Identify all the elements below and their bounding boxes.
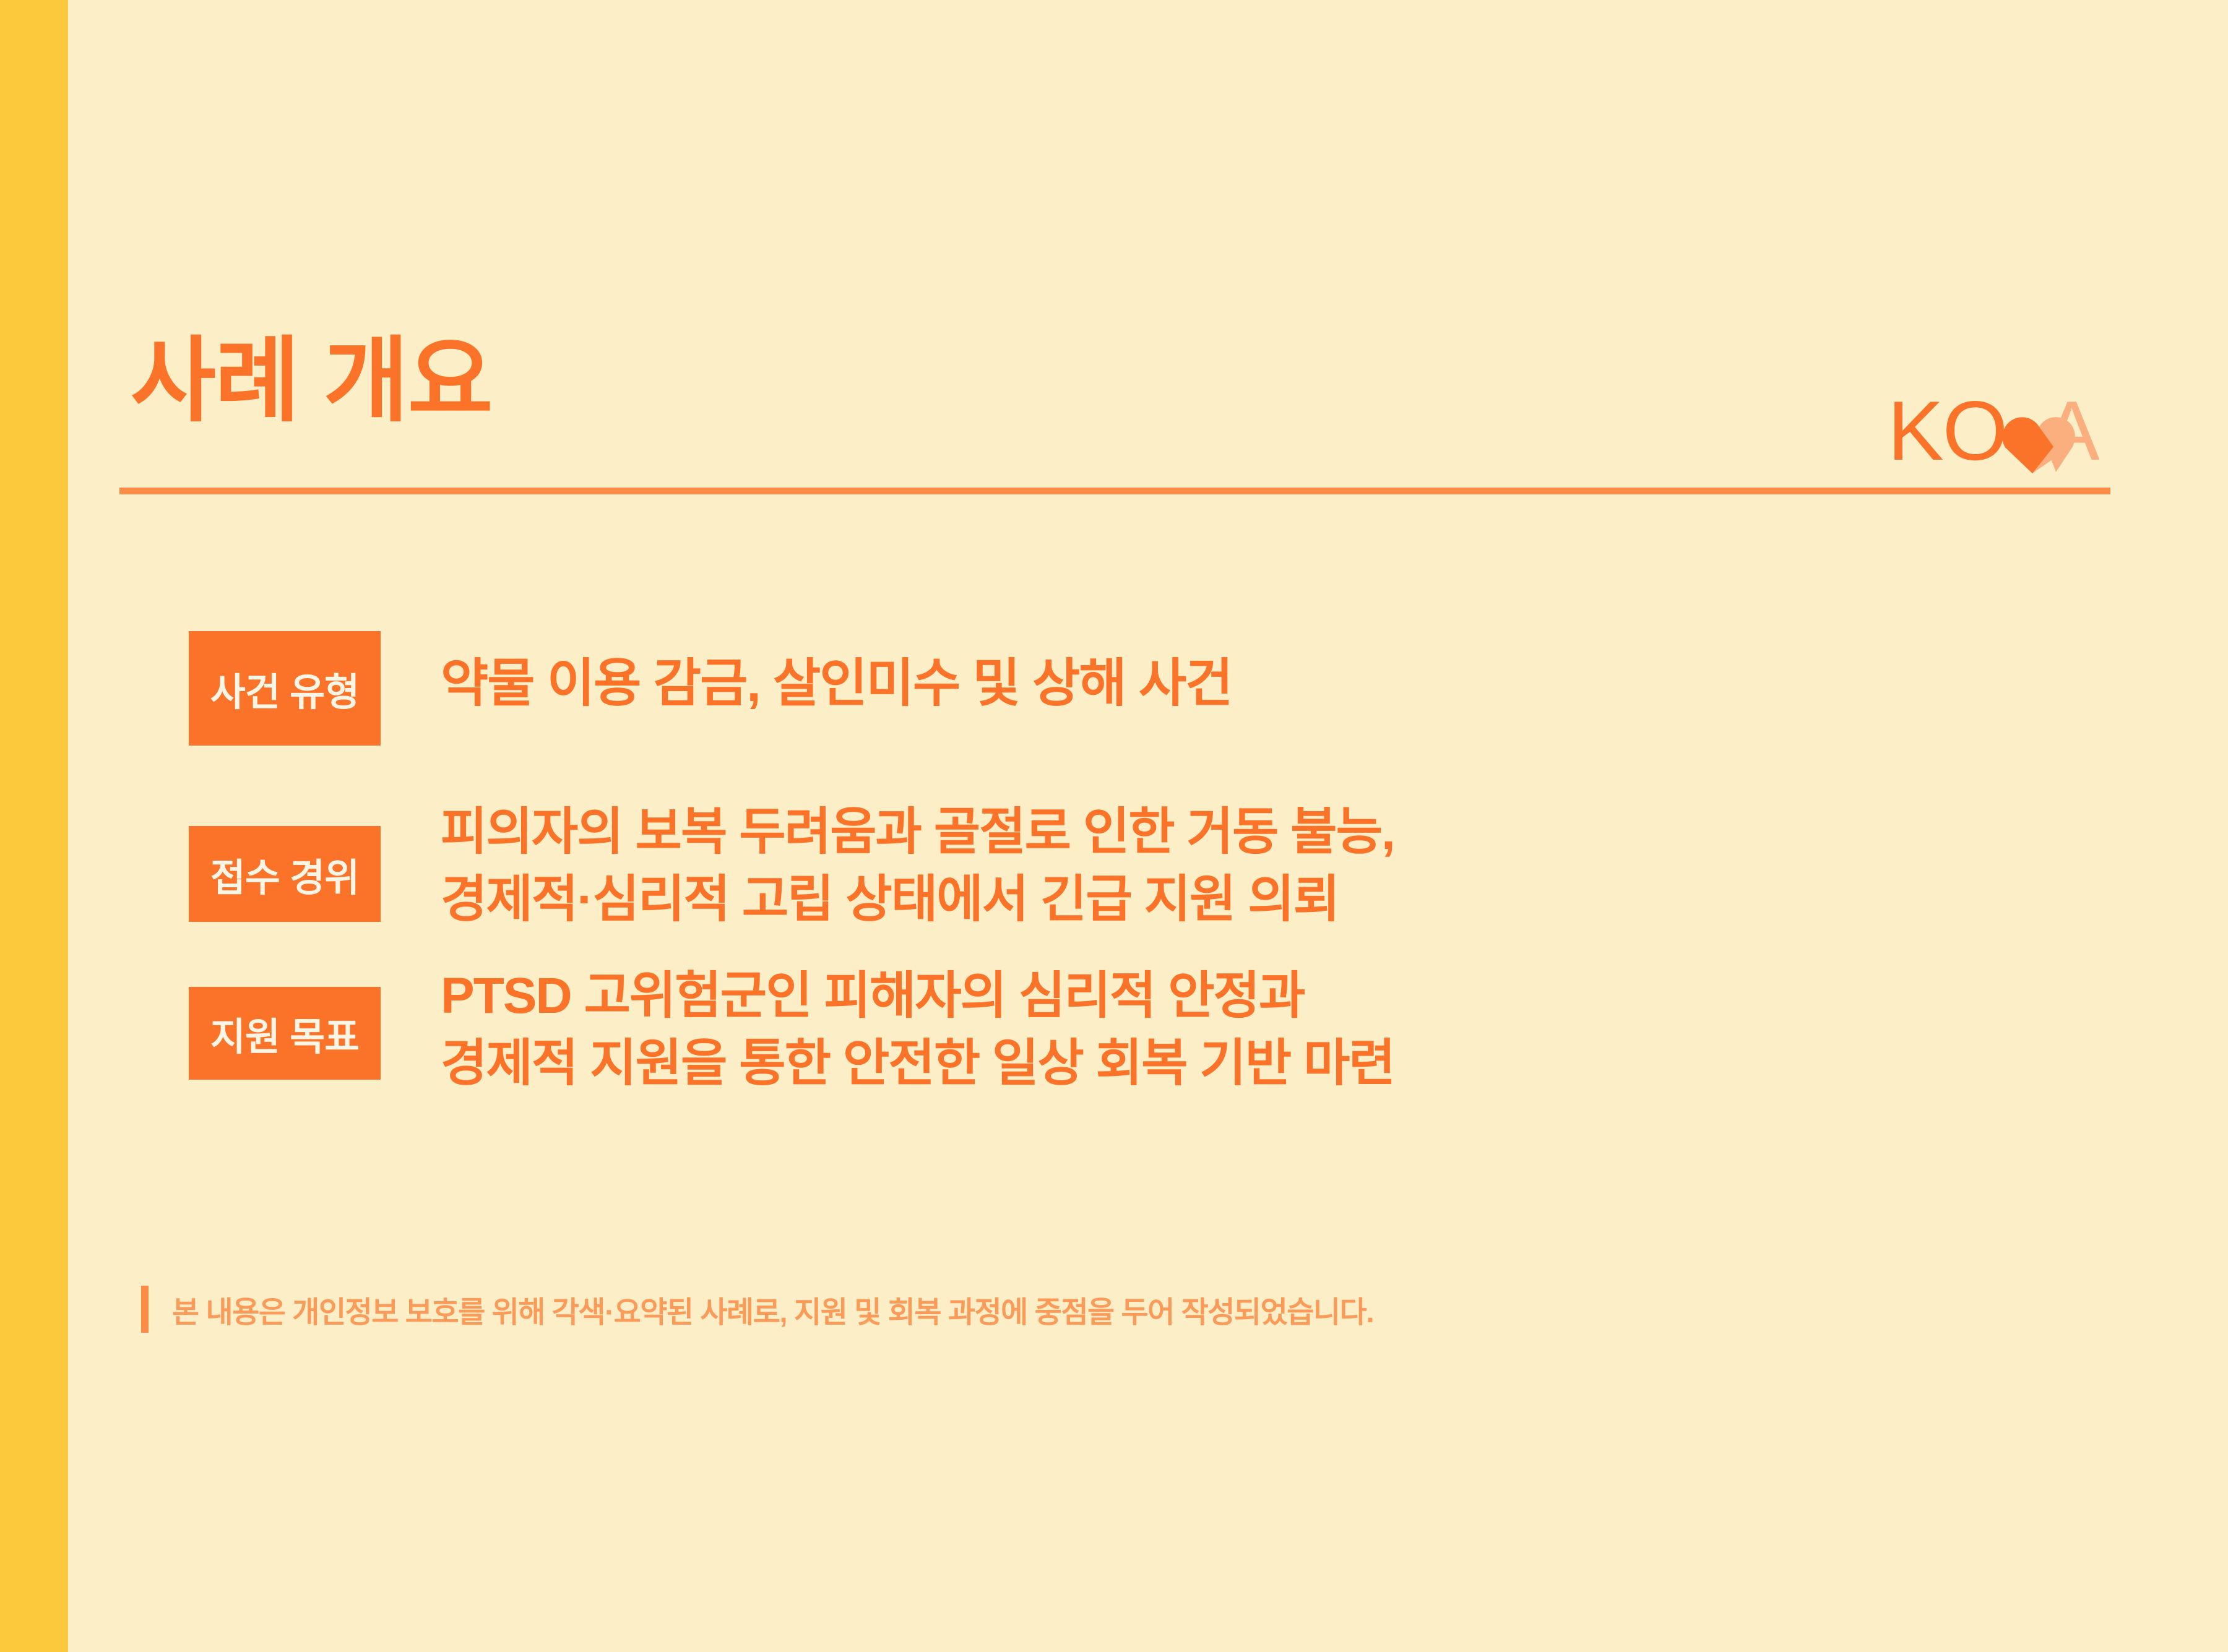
page-title: 사례 개요 [131,334,492,427]
svg-text:KO: KO [1888,389,2007,475]
slide-root: 사례 개요 KO A 사건 유형 약물 이용 감금, 살인미수 및 상해 사건 … [0,0,2228,1652]
text-case-type: 약물 이용 감금, 살인미수 및 상해 사건 [441,625,2107,709]
text-line: 피의자의 보복 두려움과 골절로 인한 거동 불능, [441,798,2107,866]
badge-intake-route: 접수 경위 [189,826,381,922]
kova-logo: KO A [1888,389,2110,475]
text-line: PTSD 고위험군인 피해자의 심리적 안정과 [441,962,2107,1030]
left-accent-stripe [0,0,68,1652]
footnote-accent-bar [141,1286,149,1333]
text-intake-route: 피의자의 보복 두려움과 골절로 인한 거동 불능, 경제적·심리적 고립 상태… [441,792,2107,933]
row-case-type: 사건 유형 약물 이용 감금, 살인미수 및 상해 사건 [189,625,2107,792]
badge-case-type: 사건 유형 [189,631,381,746]
text-line: 경제적 지원을 통한 안전한 일상 회복 기반 마련 [441,1030,2107,1097]
text-line: 약물 이용 감금, 살인미수 및 상해 사건 [441,657,2107,709]
text-line: 경제적·심리적 고립 상태에서 긴급 지원 의뢰 [441,866,2107,933]
badge-support-goal: 지원 목표 [189,987,381,1080]
row-intake-route: 접수 경위 피의자의 보복 두려움과 골절로 인한 거동 불능, 경제적·심리적… [189,792,2107,956]
case-summary-rows: 사건 유형 약물 이용 감금, 살인미수 및 상해 사건 접수 경위 피의자의 … [189,625,2107,1120]
text-support-goal: PTSD 고위험군인 피해자의 심리적 안정과 경제적 지원을 통한 안전한 일… [441,956,2107,1097]
title-divider-rule [119,488,2110,494]
footnote-text: 본 내용은 개인정보 보호를 위해 각색·요약된 사례로, 지원 및 회복 과정… [172,1288,1373,1331]
row-support-goal: 지원 목표 PTSD 고위험군인 피해자의 심리적 안정과 경제적 지원을 통한… [189,956,2107,1120]
footnote: 본 내용은 개인정보 보호를 위해 각색·요약된 사례로, 지원 및 회복 과정… [141,1286,1373,1333]
slide-header: 사례 개요 KO A [119,334,2110,514]
